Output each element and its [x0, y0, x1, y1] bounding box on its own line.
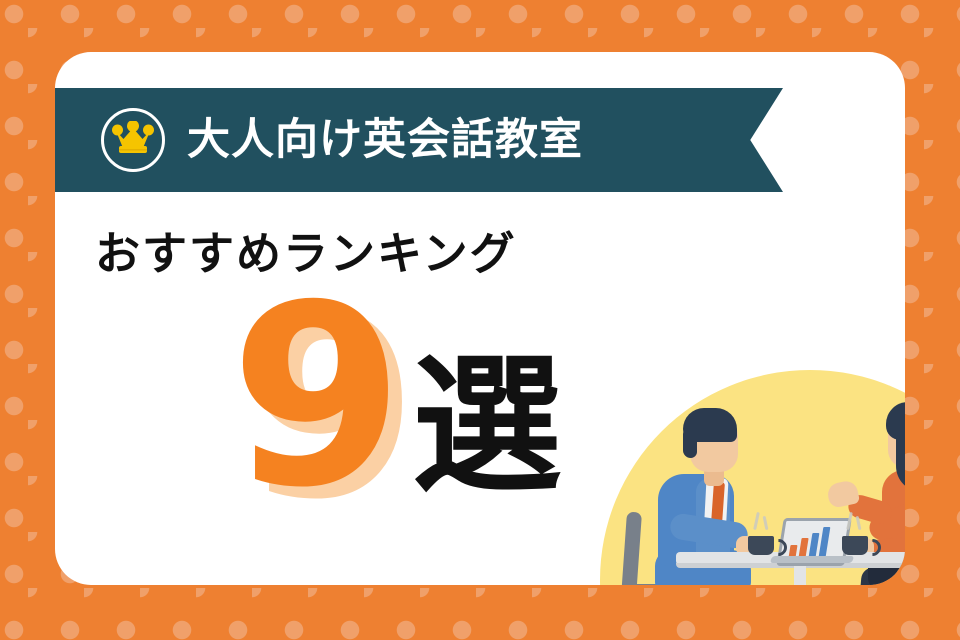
ribbon-title: 大人向け英会話教室 [187, 119, 583, 162]
laptop-chart-bar-2 [799, 538, 809, 557]
headline-count-number: 9 [230, 294, 410, 499]
laptop-chart-bar-4 [819, 527, 831, 557]
headline-count-suffix: 選 [412, 361, 562, 493]
illustration-people-at-table [600, 370, 905, 585]
crown-icon [101, 108, 165, 172]
laptop-chart-bar-3 [809, 533, 820, 557]
ribbon-banner: 大人向け英会話教室 [55, 88, 783, 192]
laptop-base [770, 556, 855, 563]
headline-count-group: 9 選 [230, 294, 562, 499]
woman-hair-front [886, 402, 905, 440]
steam-left-2 [763, 516, 769, 530]
steam-right-1 [846, 512, 853, 530]
steam-left-1 [753, 512, 760, 530]
chair-left-back [621, 512, 642, 585]
man-hair-sideburn [683, 428, 697, 458]
crown-glyph [112, 121, 154, 159]
table-leg [794, 565, 806, 585]
content-card: 大人向け英会話教室 おすすめランキング 9 選 [55, 52, 905, 585]
